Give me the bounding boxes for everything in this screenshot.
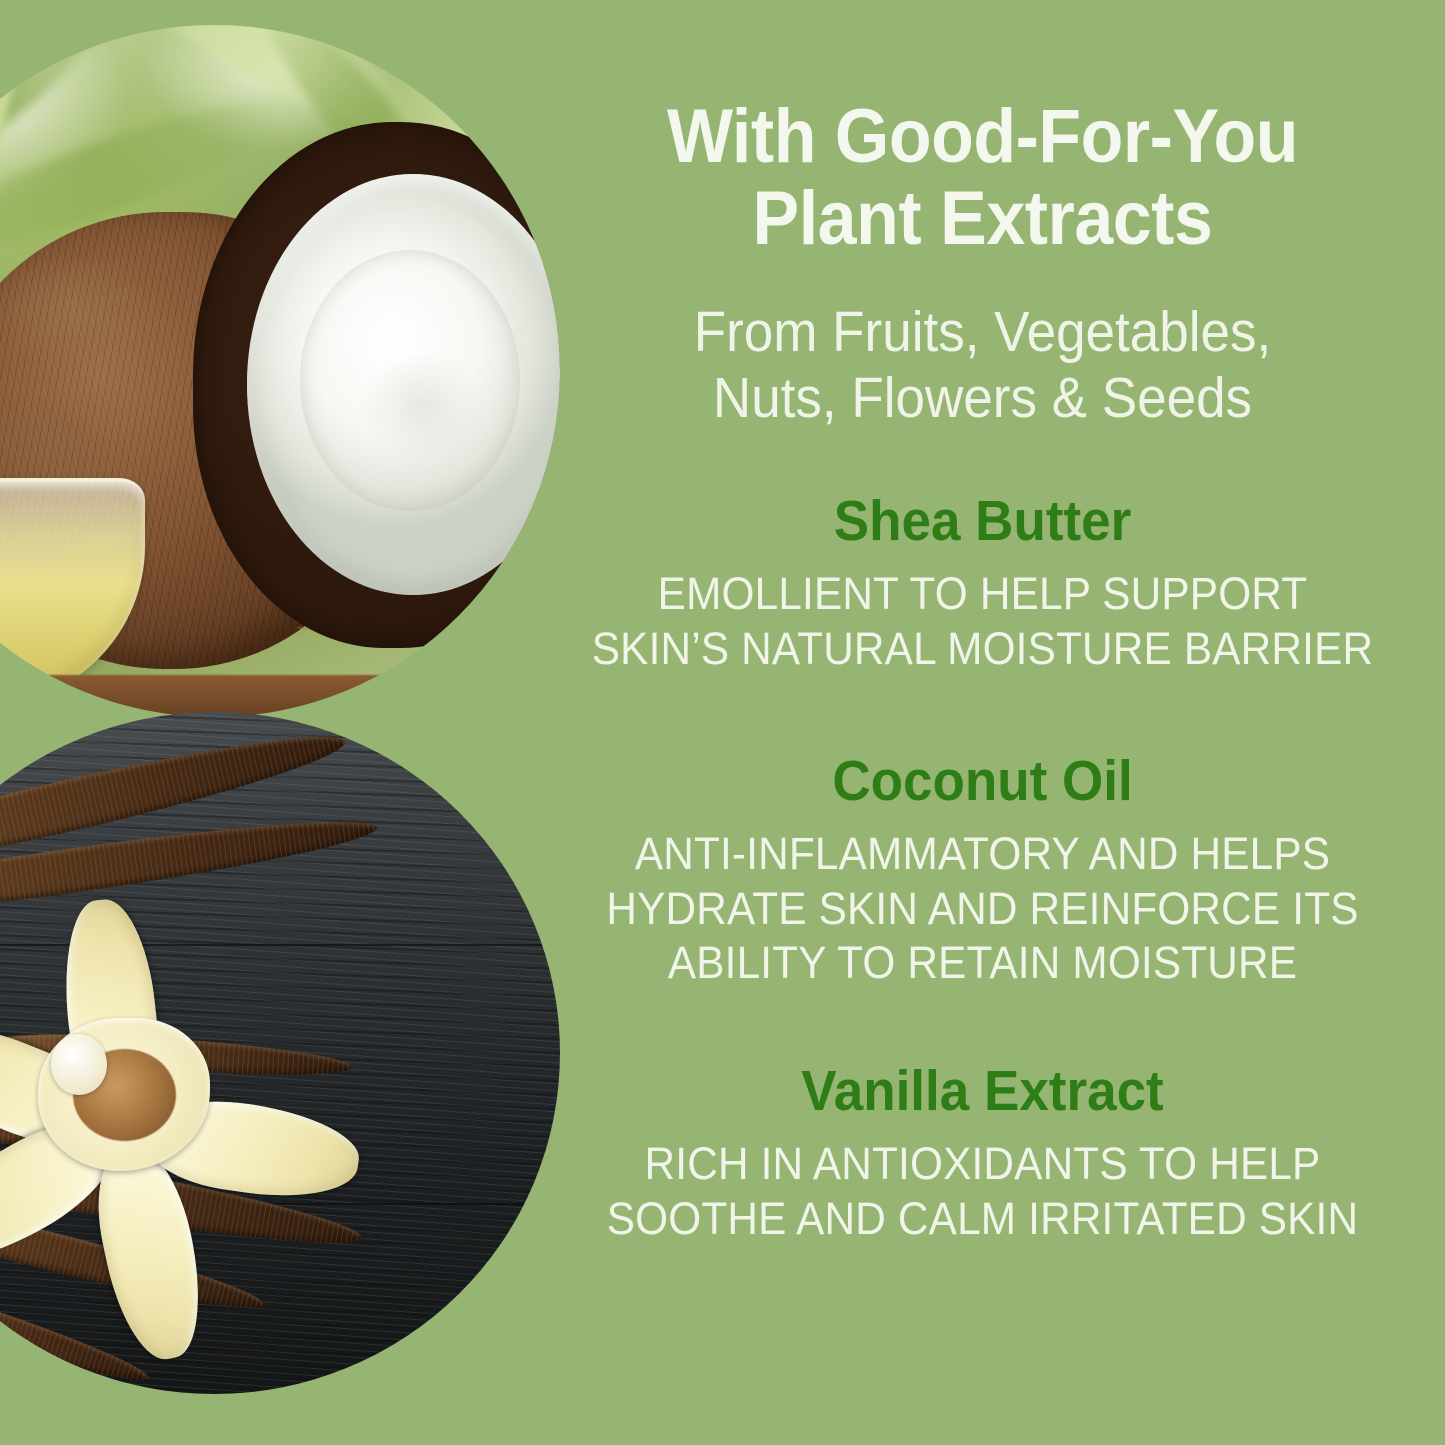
description-line: SKIN’S NATURAL MOISTURE BARRIER (585, 622, 1379, 677)
ingredient-name: Coconut Oil (590, 750, 1376, 813)
headline-line-2: Plant Extracts (594, 178, 1371, 260)
description-line: RICH IN ANTIOXIDANTS TO HELP (585, 1137, 1379, 1192)
ingredient-coconut-oil: Coconut Oil ANTI-INFLAMMATORY AND HELPS … (560, 750, 1405, 991)
vanilla-scene (0, 712, 560, 1394)
ingredient-vanilla-extract: Vanilla Extract RICH IN ANTIOXIDANTS TO … (560, 1060, 1405, 1246)
ingredient-description: ANTI-INFLAMMATORY AND HELPS HYDRATE SKIN… (585, 827, 1379, 992)
ingredient-description: EMOLLIENT TO HELP SUPPORT SKIN’S NATURAL… (585, 567, 1379, 677)
wooden-board (0, 675, 560, 717)
page-title: With Good-For-You Plant Extracts (594, 96, 1371, 260)
vanilla-photo (0, 712, 560, 1394)
description-line: HYDRATE SKIN AND REINFORCE ITS (585, 882, 1379, 937)
photo-column (0, 0, 580, 1445)
subhead-line-2: Nuts, Flowers & Seeds (590, 366, 1376, 432)
ingredient-name: Shea Butter (590, 490, 1376, 553)
subhead-line-1: From Fruits, Vegetables, (590, 300, 1376, 366)
text-column: With Good-For-You Plant Extracts From Fr… (560, 0, 1445, 1445)
ingredient-description: RICH IN ANTIOXIDANTS TO HELP SOOTHE AND … (585, 1137, 1379, 1247)
headline-line-1: With Good-For-You (594, 96, 1371, 178)
description-line: ANTI-INFLAMMATORY AND HELPS (585, 827, 1379, 882)
description-line: ABILITY TO RETAIN MOISTURE (585, 936, 1379, 991)
coconut-open-half (193, 122, 560, 648)
description-line: EMOLLIENT TO HELP SUPPORT (585, 567, 1379, 622)
coconut-flesh (247, 174, 560, 595)
ingredient-shea-butter: Shea Butter EMOLLIENT TO HELP SUPPORT SK… (560, 490, 1405, 676)
coconut-scene (0, 25, 560, 717)
orchid-column (51, 1034, 107, 1095)
vanilla-orchid-flower (0, 896, 339, 1278)
page-subtitle: From Fruits, Vegetables, Nuts, Flowers &… (590, 300, 1376, 431)
coconut-photo (0, 25, 560, 717)
description-line: SOOTHE AND CALM IRRITATED SKIN (585, 1192, 1379, 1247)
plant-extracts-infographic: With Good-For-You Plant Extracts From Fr… (0, 0, 1445, 1445)
ingredient-name: Vanilla Extract (590, 1060, 1376, 1123)
